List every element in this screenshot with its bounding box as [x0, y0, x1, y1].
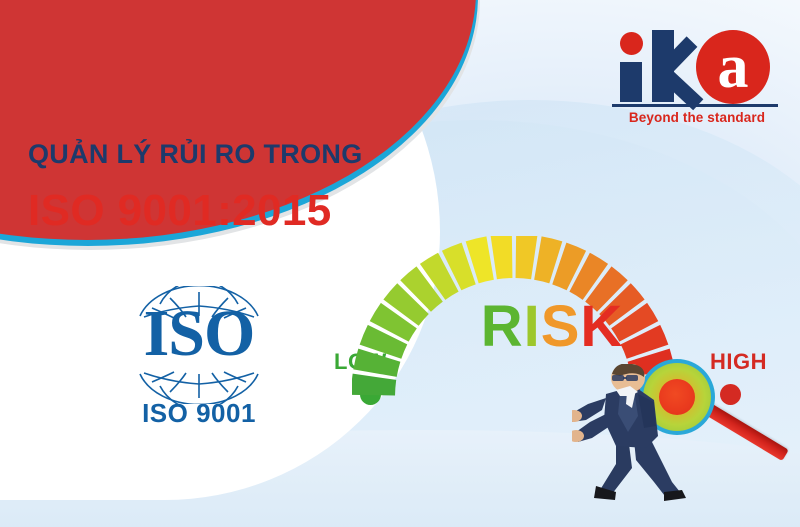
page-title-line2: ISO 9001:2015	[28, 186, 332, 236]
ika-logo[interactable]: a Beyond the standard	[612, 24, 782, 134]
gauge-segment-10	[516, 236, 538, 279]
logo-divider	[612, 104, 778, 107]
logo-letter-a: a	[696, 30, 770, 104]
banner-stage: a Beyond the standard QUẢN LÝ RỦI RO TRO…	[0, 0, 800, 527]
logo-i-dot-icon	[620, 32, 643, 55]
gauge-center-label: RISK	[352, 298, 752, 356]
businessman-illustration	[572, 364, 692, 510]
gauge-center-label-char-2: S	[541, 298, 581, 356]
page-title-line1: QUẢN LÝ RỦI RO TRONG	[28, 139, 363, 170]
iso-badge-caption: ISO 9001	[120, 398, 278, 429]
gauge-segment-0	[352, 374, 396, 396]
iso-mark-text: ISO	[120, 298, 278, 370]
gauge-segment-9	[491, 236, 513, 279]
risk-gauge: RISK LOW HIGH	[352, 236, 752, 466]
ika-logo-mark: a	[612, 24, 782, 102]
gauge-center-label-char-1: I	[524, 298, 541, 356]
gauge-center-label-char-3: K	[580, 298, 623, 356]
iso-9001-badge: ISO ISO 9001	[120, 286, 278, 434]
logo-letter-i	[620, 62, 642, 102]
logo-tagline: Beyond the standard	[612, 110, 782, 125]
gauge-center-label-char-0: R	[481, 298, 524, 356]
